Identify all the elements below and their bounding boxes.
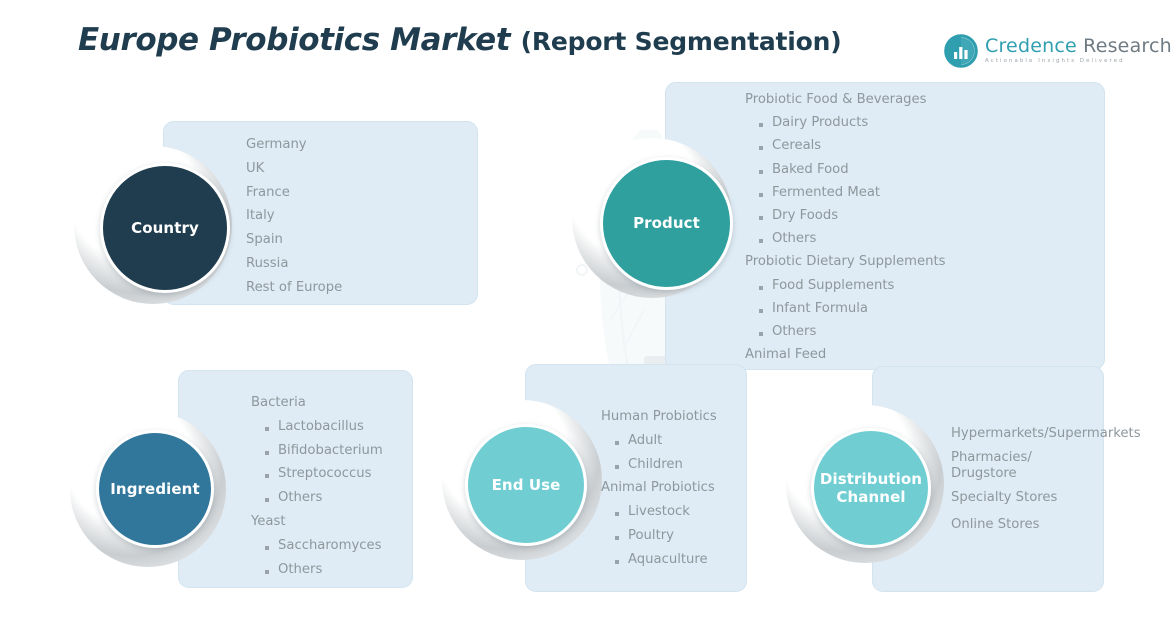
page-title-main: Europe Probiotics Market [78, 22, 510, 58]
bullet-icon [265, 498, 269, 502]
bullet-icon [759, 309, 763, 313]
list-item: Animal Feed [745, 348, 1095, 361]
logo-tagline: Actionable Insights Delivered [985, 59, 1172, 64]
list-item-label: Human Probiotics [601, 410, 717, 423]
page-title: Europe Probiotics Market (Report Segment… [78, 22, 841, 58]
list-item-label: Food Supplements [772, 279, 894, 292]
list-item-label: Streptococcus [278, 467, 371, 480]
bullet-icon [615, 512, 619, 516]
list-item: Bifidobacterium [251, 444, 421, 457]
bullet-icon [265, 427, 269, 431]
list-item-label: Online Stores [951, 517, 1039, 533]
bullet-icon [759, 170, 763, 174]
list-item: Livestock [601, 505, 761, 518]
list-item: Yeast [251, 515, 421, 528]
list-item-label: Germany [246, 138, 307, 151]
list-item-label: Bifidobacterium [278, 444, 383, 457]
list-item-label: Bacteria [251, 396, 306, 409]
list-item-label: Children [628, 458, 683, 471]
list-item: France [246, 186, 471, 199]
logo-name-research: Research [1083, 35, 1172, 57]
brand-logo: Credence Research Actionable Insights De… [944, 30, 1134, 72]
list-item: Others [745, 232, 1095, 245]
list-item-label: Adult [628, 434, 662, 447]
list-item: Pharmacies/ Drugstore [951, 450, 1101, 482]
list-item: Online Stores [951, 517, 1101, 533]
logo-name: Credence Research [985, 37, 1172, 56]
bullet-icon [759, 146, 763, 150]
bullet-icon [265, 451, 269, 455]
bullet-icon [759, 286, 763, 290]
list-item: Russia [246, 257, 471, 270]
segment-ingredient-label: Ingredient [110, 480, 199, 498]
segment-product-label: Product [633, 214, 700, 232]
segment-country-label: Country [131, 219, 199, 237]
list-item: Italy [246, 209, 471, 222]
list-item-label: Fermented Meat [772, 186, 880, 199]
segment-product-bubble[interactable]: Product [600, 157, 733, 290]
bullet-icon [615, 465, 619, 469]
list-item-label: Baked Food [772, 163, 849, 176]
list-item: Dry Foods [745, 209, 1095, 222]
list-item: Lactobacillus [251, 420, 421, 433]
list-item-label: Probiotic Food & Beverages [745, 93, 927, 106]
list-item: Bacteria [251, 396, 421, 409]
list-item-label: Others [278, 563, 322, 576]
list-item-label: France [246, 186, 290, 199]
page-title-sub: (Report Segmentation) [521, 27, 842, 56]
segment-distribution-channel-list: Hypermarkets/Supermarkets Pharmacies/ Dr… [951, 426, 1101, 533]
list-item: Streptococcus [251, 467, 421, 480]
list-item-label: Yeast [251, 515, 286, 528]
bullet-icon [759, 123, 763, 127]
list-item-label: Hypermarkets/Supermarkets [951, 426, 1141, 442]
segment-end-use-bubble[interactable]: End Use [465, 424, 587, 546]
list-item-label: Specialty Stores [951, 490, 1057, 506]
bullet-icon [615, 441, 619, 445]
list-item-label: Others [278, 491, 322, 504]
list-item-label: Animal Probiotics [601, 481, 715, 494]
list-item: Others [251, 491, 421, 504]
list-item-label: Poultry [628, 529, 674, 542]
bullet-icon [759, 216, 763, 220]
segment-product-list: Probiotic Food & Beverages Dairy Product… [745, 93, 1095, 361]
segment-end-use-label: End Use [492, 476, 561, 494]
list-item: Germany [246, 138, 471, 151]
list-item-label: Probiotic Dietary Supplements [745, 255, 946, 268]
list-item: Dairy Products [745, 116, 1095, 129]
bullet-icon [759, 332, 763, 336]
list-item-label: Others [772, 325, 816, 338]
list-item-label: Pharmacies/ Drugstore [951, 450, 1101, 482]
list-item-label: Cereals [772, 139, 821, 152]
list-item-label: Saccharomyces [278, 539, 381, 552]
list-item: Others [745, 325, 1095, 338]
infographic-canvas: Europe Probiotics Market (Report Segment… [0, 0, 1176, 622]
list-item: Probiotic Food & Beverages [745, 93, 1095, 106]
list-item-label: Dry Foods [772, 209, 838, 222]
bullet-icon [265, 546, 269, 550]
list-item: Poultry [601, 529, 761, 542]
list-item-label: Spain [246, 233, 283, 246]
list-item: Specialty Stores [951, 490, 1101, 506]
list-item: Children [601, 458, 761, 471]
list-item: Saccharomyces [251, 539, 421, 552]
list-item-label: Rest of Europe [246, 281, 342, 294]
list-item: Food Supplements [745, 279, 1095, 292]
bullet-icon [759, 239, 763, 243]
list-item: Probiotic Dietary Supplements [745, 255, 1095, 268]
list-item: Others [251, 563, 421, 576]
list-item: Fermented Meat [745, 186, 1095, 199]
bullet-icon [615, 536, 619, 540]
list-item-label: Russia [246, 257, 288, 270]
bullet-icon [759, 193, 763, 197]
list-item: Animal Probiotics [601, 481, 761, 494]
list-item: Infant Formula [745, 302, 1095, 315]
bullet-icon [615, 560, 619, 564]
list-item: Rest of Europe [246, 281, 471, 294]
list-item-label: Dairy Products [772, 116, 868, 129]
list-item-label: Aquaculture [628, 553, 708, 566]
list-item: Baked Food [745, 163, 1095, 176]
list-item: Hypermarkets/Supermarkets [951, 426, 1101, 442]
list-item: UK [246, 162, 471, 175]
segment-distribution-channel-label: Distribution Channel [814, 470, 928, 507]
list-item-label: Animal Feed [745, 348, 826, 361]
list-item: Aquaculture [601, 553, 761, 566]
list-item-label: UK [246, 162, 264, 175]
bar-chart-circle-icon [944, 34, 978, 68]
bullet-icon [265, 474, 269, 478]
list-item: Human Probiotics [601, 410, 761, 423]
list-item-label: Italy [246, 209, 275, 222]
list-item-label: Infant Formula [772, 302, 868, 315]
list-item-label: Lactobacillus [278, 420, 364, 433]
logo-name-credence: Credence [985, 35, 1077, 57]
segment-distribution-channel-bubble[interactable]: Distribution Channel [811, 428, 931, 548]
logo-text-block: Credence Research Actionable Insights De… [985, 37, 1172, 64]
list-item: Adult [601, 434, 761, 447]
list-item: Spain [246, 233, 471, 246]
bullet-icon [265, 570, 269, 574]
segment-ingredient-bubble[interactable]: Ingredient [96, 430, 214, 548]
segment-country-bubble[interactable]: Country [100, 163, 230, 293]
segment-end-use-list: Human Probiotics Adult Children Animal P… [601, 410, 761, 566]
list-item-label: Livestock [628, 505, 690, 518]
list-item: Cereals [745, 139, 1095, 152]
list-item-label: Others [772, 232, 816, 245]
segment-country-list: Germany UK France Italy Spain Russia [246, 138, 471, 294]
segment-ingredient-list: Bacteria Lactobacillus Bifidobacterium S… [251, 396, 421, 576]
